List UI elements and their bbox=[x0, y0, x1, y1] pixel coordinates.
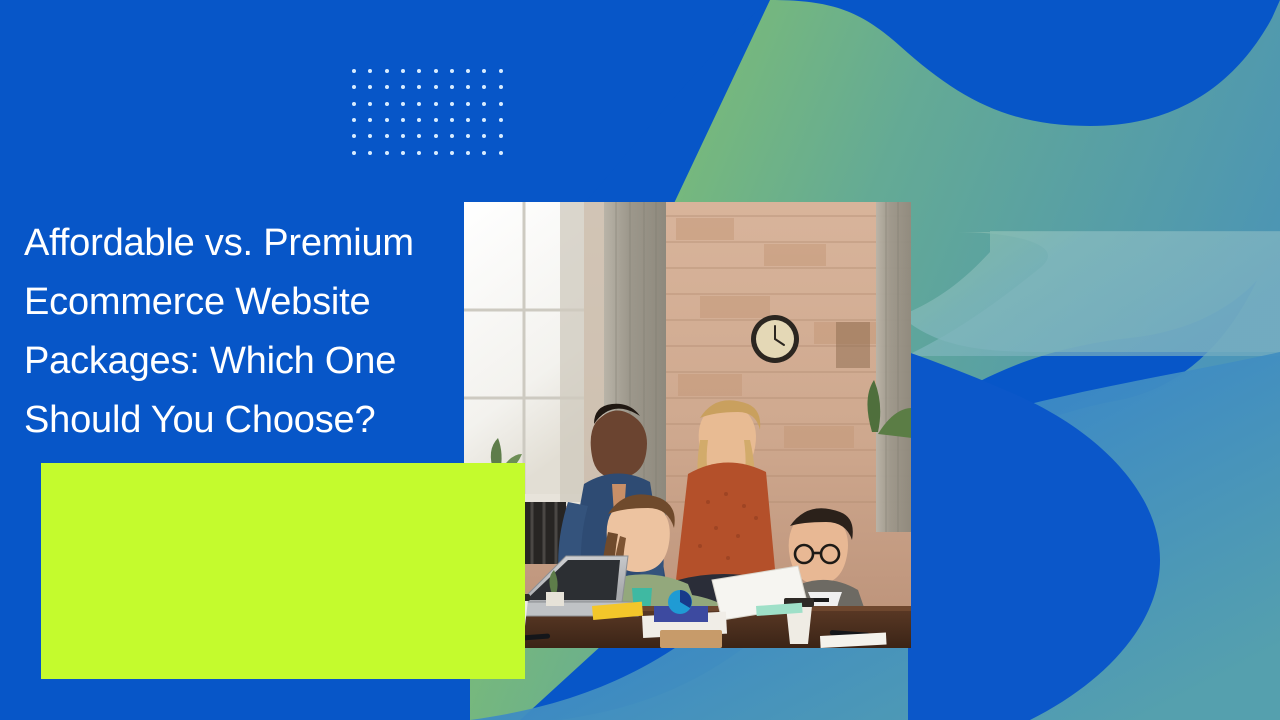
grid-dot bbox=[352, 85, 356, 89]
grid-dot bbox=[466, 134, 470, 138]
grid-dot bbox=[499, 102, 503, 106]
grid-dot bbox=[434, 151, 438, 155]
grid-dot bbox=[352, 118, 356, 122]
office-team-photo-illustration bbox=[464, 202, 911, 648]
grid-dot bbox=[401, 85, 405, 89]
grid-dot bbox=[450, 118, 454, 122]
hero-photo bbox=[464, 202, 911, 648]
page-title: Affordable vs. Premium Ecommerce Website… bbox=[24, 214, 460, 450]
grid-dot bbox=[466, 102, 470, 106]
grid-dot bbox=[450, 151, 454, 155]
grid-dot bbox=[499, 69, 503, 73]
grid-dot bbox=[352, 151, 356, 155]
grid-dot bbox=[450, 134, 454, 138]
grid-dot bbox=[401, 151, 405, 155]
grid-dot bbox=[385, 85, 389, 89]
grid-dot bbox=[466, 151, 470, 155]
grid-dot bbox=[434, 118, 438, 122]
grid-dot bbox=[499, 85, 503, 89]
grid-dot bbox=[385, 102, 389, 106]
grid-dot bbox=[417, 118, 421, 122]
grid-dot bbox=[450, 85, 454, 89]
grid-dot bbox=[417, 85, 421, 89]
grid-dot bbox=[368, 151, 372, 155]
grid-dot bbox=[352, 102, 356, 106]
grid-dot bbox=[482, 69, 486, 73]
grid-dot bbox=[401, 134, 405, 138]
grid-dot bbox=[482, 102, 486, 106]
grid-dot bbox=[434, 85, 438, 89]
grid-dot bbox=[385, 118, 389, 122]
slide-canvas: Affordable vs. Premium Ecommerce Website… bbox=[0, 0, 1280, 720]
grid-dot bbox=[401, 69, 405, 73]
grid-dot bbox=[352, 69, 356, 73]
grid-dot bbox=[352, 134, 356, 138]
grid-dot bbox=[499, 134, 503, 138]
grid-dot bbox=[401, 118, 405, 122]
grid-dot bbox=[434, 69, 438, 73]
grid-dot bbox=[417, 134, 421, 138]
dot-grid-decoration bbox=[352, 69, 506, 165]
grid-dot bbox=[434, 134, 438, 138]
grid-dot bbox=[482, 134, 486, 138]
title-block: Affordable vs. Premium Ecommerce Website… bbox=[24, 214, 460, 450]
grid-dot bbox=[482, 118, 486, 122]
grid-dot bbox=[401, 102, 405, 106]
grid-dot bbox=[499, 151, 503, 155]
grid-dot bbox=[417, 69, 421, 73]
grid-dot bbox=[368, 134, 372, 138]
green-accent-block bbox=[41, 463, 525, 679]
grid-dot bbox=[466, 69, 470, 73]
grid-dot bbox=[450, 69, 454, 73]
grid-dot bbox=[466, 118, 470, 122]
grid-dot bbox=[385, 151, 389, 155]
grid-dot bbox=[417, 102, 421, 106]
grid-dot bbox=[368, 69, 372, 73]
grid-dot bbox=[466, 85, 470, 89]
grid-dot bbox=[385, 69, 389, 73]
grid-dot bbox=[482, 151, 486, 155]
grid-dot bbox=[482, 85, 486, 89]
grid-dot bbox=[368, 85, 372, 89]
grid-dot bbox=[385, 134, 389, 138]
grid-dot bbox=[368, 118, 372, 122]
grid-dot bbox=[434, 102, 438, 106]
grid-dot bbox=[450, 102, 454, 106]
grid-dot bbox=[499, 118, 503, 122]
grid-dot bbox=[368, 102, 372, 106]
grid-dot bbox=[417, 151, 421, 155]
